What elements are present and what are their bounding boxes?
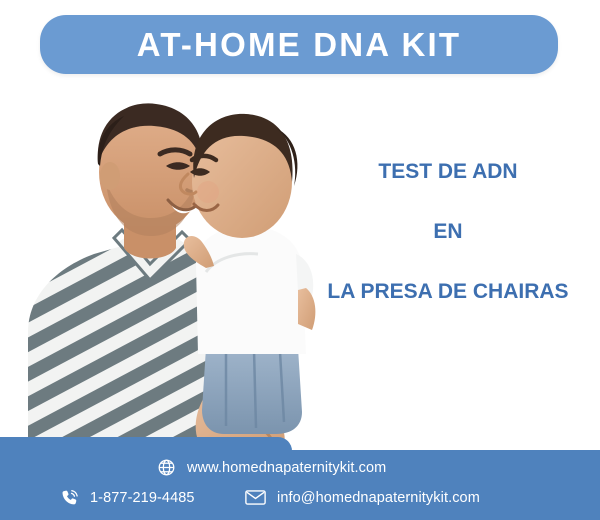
footer-website[interactable]: www.homednapaternitykit.com xyxy=(157,458,386,477)
text-line-service: TEST DE ADN xyxy=(300,160,596,183)
email-text: info@homednapaternitykit.com xyxy=(277,490,480,506)
footer-phone[interactable]: 1-877-219-4485 xyxy=(60,488,195,507)
text-line-location: LA PRESA DE CHAIRAS xyxy=(300,280,596,303)
location-text-block: TEST DE ADN EN LA PRESA DE CHAIRAS xyxy=(300,160,596,303)
envelope-icon xyxy=(245,488,266,507)
website-text: www.homednapaternitykit.com xyxy=(187,460,386,476)
father-holding-toddler-photo xyxy=(10,82,320,452)
footer-contact-bar: www.homednapaternitykit.com 1-877-219-44… xyxy=(0,437,600,520)
poster-canvas: AT-HOME DNA KIT xyxy=(0,0,600,520)
page-title: AT-HOME DNA KIT xyxy=(137,28,461,61)
phone-icon xyxy=(60,488,79,507)
globe-icon xyxy=(157,458,176,477)
text-line-connector: EN xyxy=(300,220,596,243)
footer-email[interactable]: info@homednapaternitykit.com xyxy=(245,488,480,507)
phone-text: 1-877-219-4485 xyxy=(90,490,195,506)
header-banner: AT-HOME DNA KIT xyxy=(40,15,558,74)
